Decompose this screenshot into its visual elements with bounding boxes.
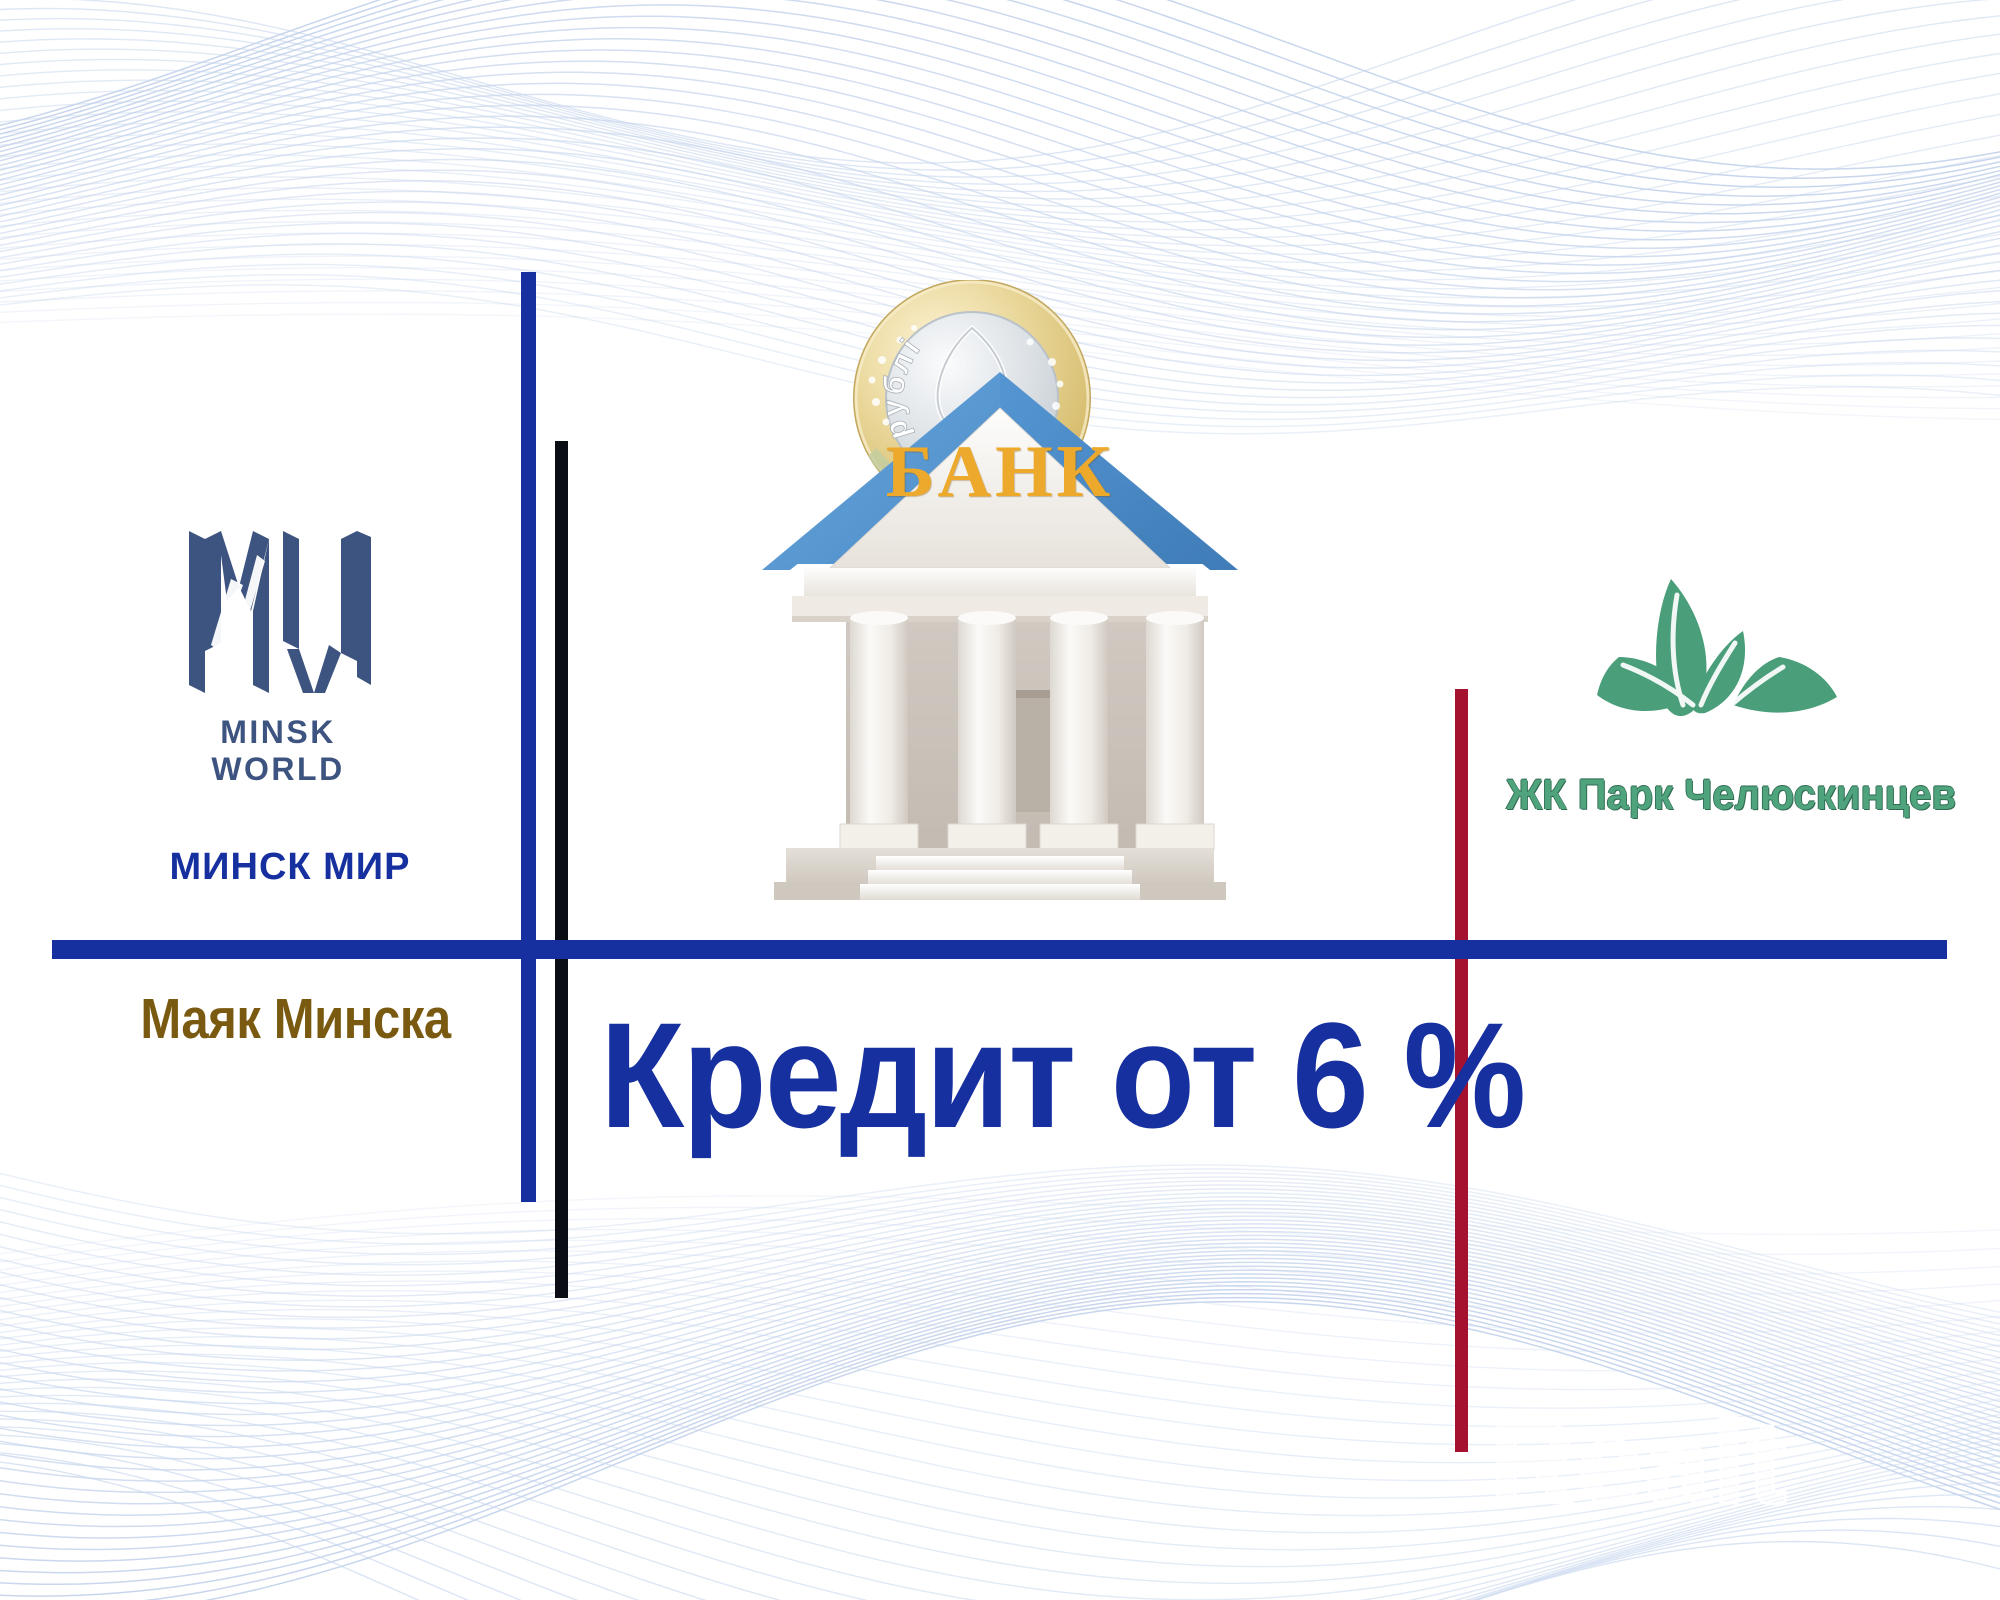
chelyuskintsev-caption: ЖК Парк Челюскинцев [1506, 771, 1934, 820]
minsk-world-logo: MINSK WORLD [148, 525, 408, 788]
mw-monogram-icon [183, 525, 373, 700]
minsk-world-wordmark: MINSK WORLD [148, 714, 408, 788]
bank-building-illustration: рублі [700, 280, 1300, 900]
headline-credit-rate: Кредит от 6 % [600, 1000, 1391, 1150]
divider-vertical-black [555, 441, 568, 1298]
realt-watermark: Realt [1490, 1395, 1789, 1531]
mayak-minska-caption: Маяк Минска [140, 986, 415, 1052]
chelyuskintsev-logo: ЖК Парк Челюскинцев [1490, 565, 1950, 820]
green-leaves-icon [1575, 565, 1865, 765]
bank-sign: БАНК [700, 430, 1300, 515]
minsk-mir-caption: МИНСК МИР [150, 846, 430, 889]
divider-vertical-blue [521, 272, 536, 1202]
divider-horizontal-blue [52, 940, 1947, 959]
advertisement-banner: MINSK WORLD МИНСК МИР Маяк Минска [0, 0, 2000, 1600]
bank-sign-text: БАНК [886, 431, 1115, 513]
